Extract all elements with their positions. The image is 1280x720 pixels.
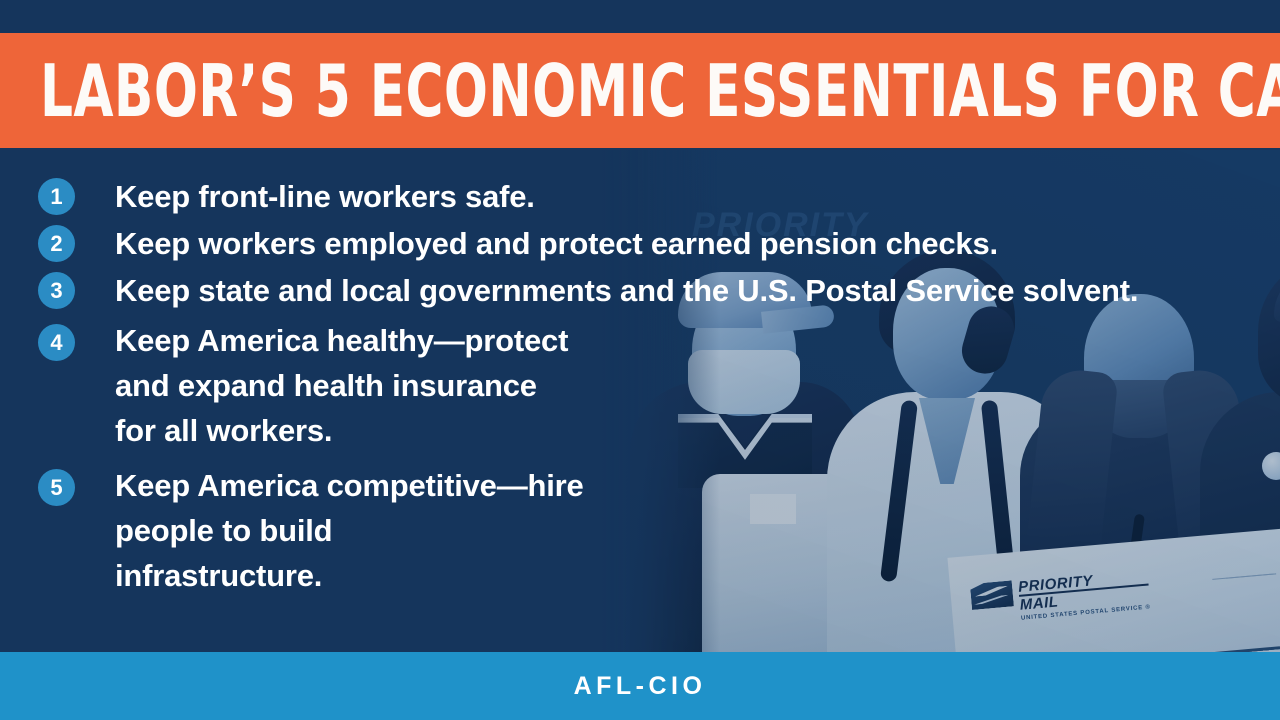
list-item: 1 Keep front-line workers safe. <box>0 174 1280 219</box>
list-item: 2 Keep workers employed and protect earn… <box>0 221 1280 266</box>
poster-canvas: LABOR’S 5 ECONOMIC ESSENTIALS FOR CARES … <box>0 0 1280 720</box>
footer-bar: AFL-CIO <box>0 652 1280 720</box>
list-item-number-badge: 4 <box>38 324 75 361</box>
list-item: 5 Keep America competitive—hire people t… <box>0 463 1280 598</box>
top-navy-strip <box>0 0 1280 33</box>
afl-cio-logo: AFL-CIO <box>574 672 707 701</box>
list-item-text: Keep America competitive—hire people to … <box>115 463 584 598</box>
list-item-text: Keep America healthy—protect and expand … <box>115 318 568 453</box>
essentials-list: 1 Keep front-line workers safe. 2 Keep w… <box>0 150 1280 600</box>
list-item-text: Keep state and local governments and the… <box>115 268 1138 313</box>
page-title: LABOR’S 5 ECONOMIC ESSENTIALS FOR CARES … <box>40 55 1280 127</box>
list-item-number-badge: 1 <box>38 178 75 215</box>
list-item-number-badge: 2 <box>38 225 75 262</box>
list-item: 3 Keep state and local governments and t… <box>0 268 1280 313</box>
list-item-number-badge: 3 <box>38 272 75 309</box>
title-banner: LABOR’S 5 ECONOMIC ESSENTIALS FOR CARES … <box>0 33 1280 148</box>
list-item-text: Keep front-line workers safe. <box>115 174 535 219</box>
list-item-text: Keep workers employed and protect earned… <box>115 221 998 266</box>
list-item: 4 Keep America healthy—protect and expan… <box>0 318 1280 453</box>
list-item-number-badge: 5 <box>38 469 75 506</box>
